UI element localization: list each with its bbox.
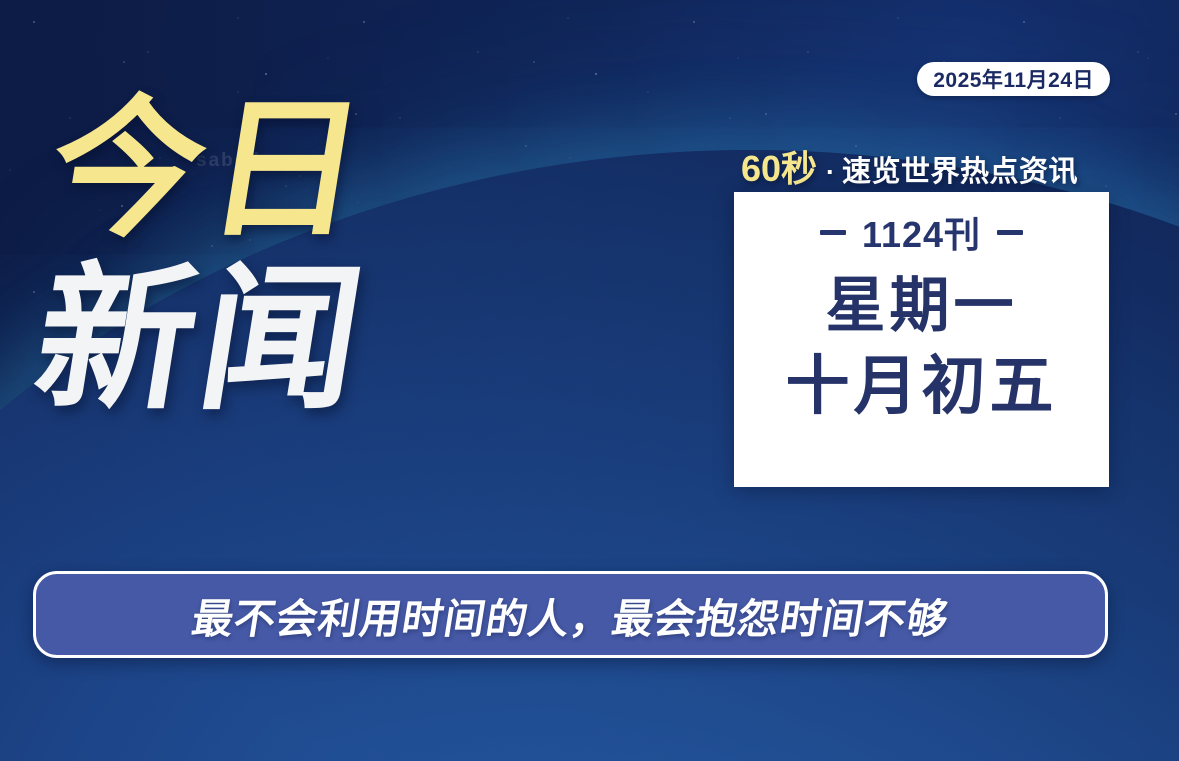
issue-number: 1124刊 xyxy=(862,206,981,258)
issue-row: 1124刊 xyxy=(820,206,1023,258)
tagline-separator: · xyxy=(826,157,835,188)
title-line-today: 今日 xyxy=(40,96,494,245)
tagline-seconds: 60秒 xyxy=(741,140,817,192)
tagline: 60秒 · 速览世界热点资讯 xyxy=(741,140,1078,192)
quote-text: 最不会利用时间的人，最会抱怨时间不够 xyxy=(188,585,954,645)
tagline-text: 速览世界热点资讯 xyxy=(842,148,1078,190)
issue-info-card: 1124刊 星期一 十月初五 xyxy=(734,192,1109,487)
poster-title: 今日 新闻 xyxy=(52,96,482,418)
date-badge: 2025年11月24日 xyxy=(917,62,1110,96)
news-poster: sabcdu 今日 新闻 2025年11月24日 60秒 · 速览世界热点资讯 … xyxy=(0,0,1179,761)
title-line-news: 新闻 xyxy=(26,263,495,418)
lunar-date-label: 十月初五 xyxy=(786,353,1058,420)
quote-banner: 最不会利用时间的人，最会抱怨时间不够 xyxy=(33,571,1108,658)
weekday-label: 星期一 xyxy=(826,274,1018,337)
dash-left-icon xyxy=(820,230,846,235)
dash-right-icon xyxy=(997,230,1023,235)
